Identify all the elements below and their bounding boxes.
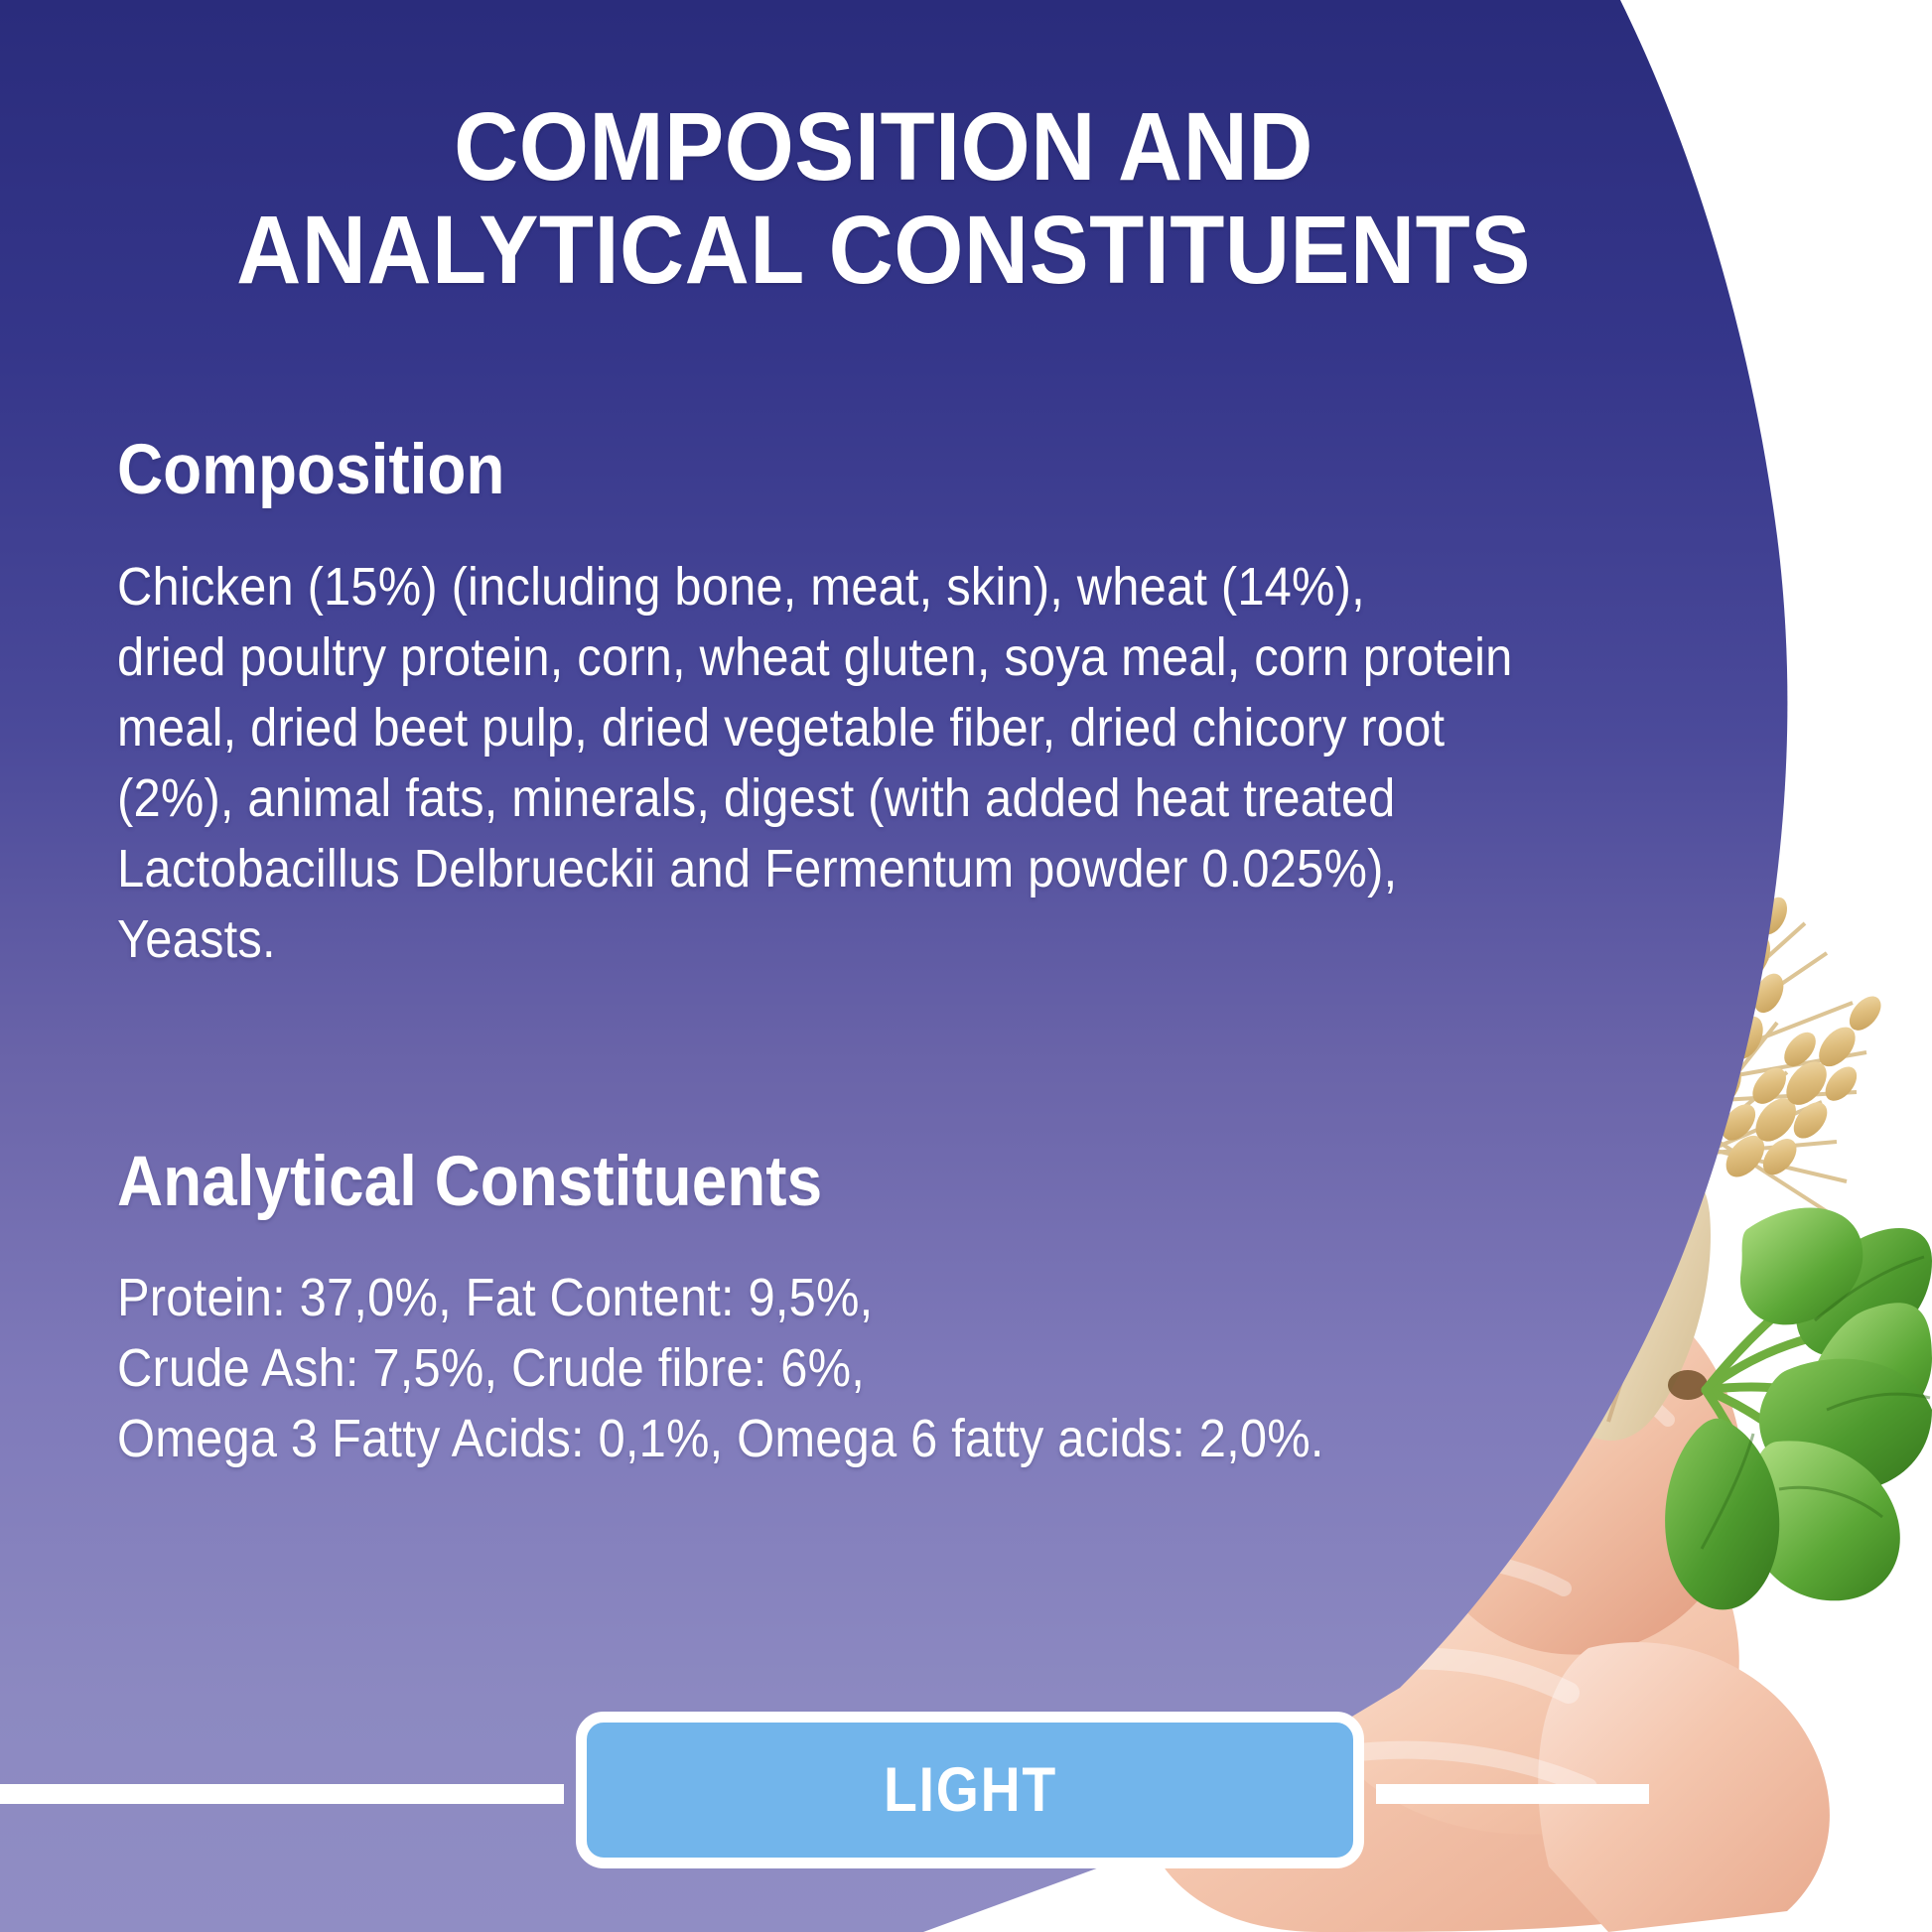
composition-line: meal, dried beet pulp, dried vegetable f… (117, 693, 1513, 763)
title-line-1: COMPOSITION AND (62, 95, 1705, 199)
composition-heading: Composition (117, 435, 504, 505)
analytical-constituents-heading: Analytical Constituents (117, 1147, 822, 1217)
composition-line: Chicken (15%) (including bone, meat, ski… (117, 552, 1513, 622)
title-line-2: ANALYTICAL CONSTITUENTS (62, 199, 1705, 302)
product-info-card: COMPOSITION AND ANALYTICAL CONSTITUENTS … (0, 0, 1932, 1932)
composition-line: (2%), animal fats, minerals, digest (wit… (117, 763, 1513, 834)
analytical-line: Crude Ash: 7,5%, Crude fibre: 6%, (117, 1333, 1324, 1404)
footer-rule-left (0, 1784, 564, 1804)
analytical-constituents-text: Protein: 37,0%, Fat Content: 9,5%, Crude… (117, 1263, 1324, 1474)
composition-text: Chicken (15%) (including bone, meat, ski… (117, 552, 1513, 975)
analytical-line: Omega 3 Fatty Acids: 0,1%, Omega 6 fatty… (117, 1404, 1324, 1474)
page-title: COMPOSITION AND ANALYTICAL CONSTITUENTS (62, 95, 1705, 302)
light-variant-badge[interactable]: LIGHT (576, 1712, 1364, 1868)
composition-line: Lactobacillus Delbrueckii and Fermentum … (117, 834, 1513, 904)
composition-line: dried poultry protein, corn, wheat glute… (117, 622, 1513, 693)
composition-line: Yeasts. (117, 904, 1513, 975)
light-variant-label: LIGHT (883, 1759, 1056, 1822)
footer-rule-right (1376, 1784, 1649, 1804)
analytical-line: Protein: 37,0%, Fat Content: 9,5%, (117, 1263, 1324, 1333)
